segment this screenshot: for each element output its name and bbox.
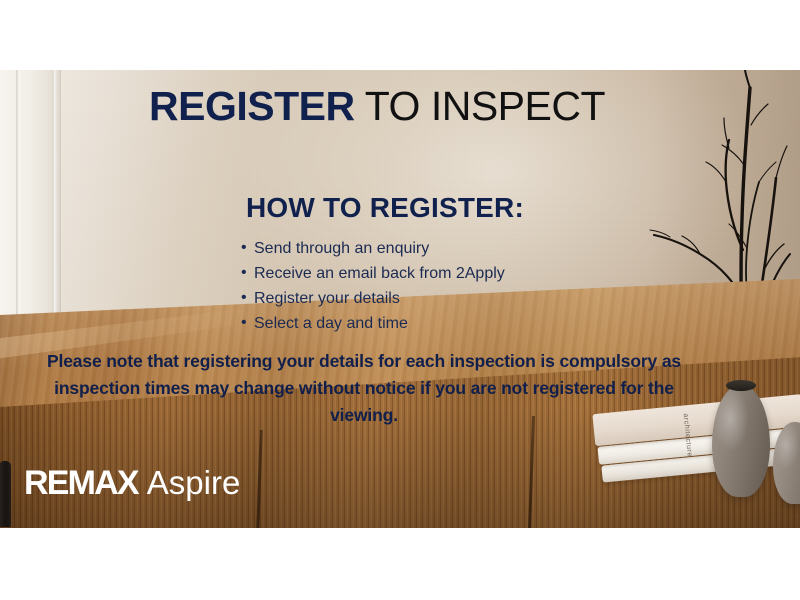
list-item: Select a day and time [241, 311, 505, 336]
registration-steps-list: Send through an enquiry Receive an email… [241, 236, 505, 336]
remax-aspire-logo: REMAXAspire [24, 464, 240, 503]
page-title-rest: TO INSPECT [355, 83, 605, 129]
compulsory-registration-note: Please note that registering your detail… [34, 348, 694, 429]
page-title: REGISTER TO INSPECT [0, 86, 754, 127]
list-item: Send through an enquiry [241, 236, 505, 261]
property-photo-background: architecture REGISTER TO INSPECT HOW TO … [0, 70, 800, 528]
poster-page: architecture REGISTER TO INSPECT HOW TO … [0, 0, 800, 600]
section-heading: HOW TO REGISTER: [0, 192, 770, 224]
page-title-emphasis: REGISTER [149, 83, 355, 129]
text-overlay: REGISTER TO INSPECT HOW TO REGISTER: Sen… [0, 70, 800, 528]
logo-office-name: Aspire [147, 464, 241, 501]
list-item: Register your details [241, 286, 505, 311]
logo-brand-mark: REMAX [24, 464, 138, 502]
list-item: Receive an email back from 2Apply [241, 261, 505, 286]
